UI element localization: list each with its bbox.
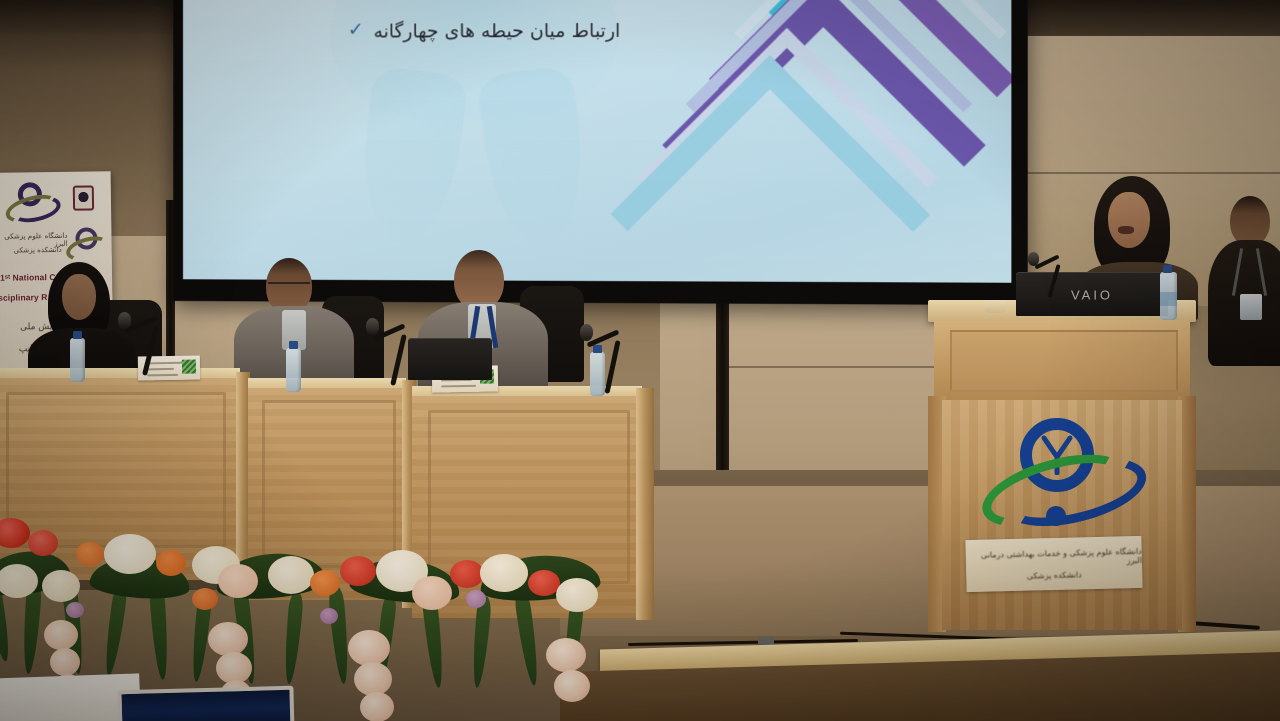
water-bottle [70, 338, 85, 382]
alborz-ums-emblem-icon [980, 418, 1130, 538]
foliage [102, 585, 128, 676]
microphone [358, 312, 432, 382]
flower-orange [192, 588, 218, 610]
glasses-icon [268, 282, 310, 292]
slide-bullet-text: ارتباط میان حیطه های چهارگانه [374, 16, 621, 45]
flower-orange [76, 542, 104, 566]
orchid-bloom [44, 620, 78, 650]
plaque-line-1: دانشگاه علوم پزشکی و خدمات بهداشتی درمان… [966, 546, 1142, 568]
mouth [1118, 226, 1134, 234]
slide-bullet-item: ارتباط میان حیطه های چهارگانه ✓ [345, 15, 987, 45]
wall-seam [729, 366, 944, 368]
orchid-bloom [348, 630, 390, 666]
slide-surface: تعیین ارتباط میان مشخصات دموگرافیک با حی… [183, 0, 1011, 283]
banner-persian-title-2: دانشکده پزشکی [10, 246, 62, 255]
orchid-bloom [546, 638, 586, 672]
face [1108, 192, 1150, 248]
tertiary-swoosh-icon [64, 232, 112, 265]
conference-photo: تعیین ارتباط میان مشخصات دموگرافیک با حی… [0, 0, 1280, 721]
water-bottle [286, 348, 301, 392]
flower-purple [466, 590, 486, 608]
foliage [282, 592, 304, 685]
foliage [328, 586, 351, 685]
water-bottle [1160, 272, 1177, 320]
flower-red [340, 556, 376, 586]
flower-cream [480, 554, 528, 592]
flower-purple [320, 608, 338, 624]
flower-cream [556, 578, 598, 612]
podium-microphone [1028, 250, 1080, 296]
flower-cream [104, 534, 156, 574]
orchid-bloom [208, 622, 248, 656]
alborz-ums-logo-icon [5, 182, 54, 223]
flower-cream [268, 556, 314, 594]
flower-peach [218, 564, 258, 598]
head [1230, 196, 1270, 246]
foliage [470, 596, 492, 689]
flower-purple [66, 602, 84, 618]
slide-bullets: تعیین ارتباط میان مشخصات دموگرافیک با حی… [345, 0, 987, 71]
paper-cup [984, 300, 1006, 313]
flower-orange [156, 550, 186, 576]
secondary-seal-logo-icon [73, 185, 94, 210]
attendee-with-badge [1212, 196, 1280, 386]
front-monitor [117, 686, 294, 721]
plaque-line-2: دانشکده پزشکی [1027, 570, 1082, 580]
flower-red [450, 560, 484, 588]
check-tick-icon: ✓ [345, 20, 364, 39]
podium: دانشگاه علوم پزشکی و خدمات بهداشتی درمان… [928, 300, 1196, 630]
orchid-bloom [50, 648, 80, 676]
microphone [118, 306, 188, 372]
orchid-bloom [554, 670, 590, 702]
podium-mid-inset [950, 330, 1178, 392]
flower-cream [42, 570, 80, 602]
podium-plaque: دانشگاه علوم پزشکی و خدمات بهداشتی درمان… [965, 536, 1142, 592]
foliage [513, 589, 541, 686]
flower-peach [412, 576, 452, 610]
badge [1240, 294, 1262, 320]
flower-red [28, 530, 58, 556]
head [454, 250, 504, 310]
face [62, 274, 96, 320]
orchid-bloom [354, 662, 392, 696]
flower-orange [310, 570, 340, 596]
microphone [570, 316, 646, 388]
orchid-bloom [360, 692, 394, 721]
flower-red [0, 518, 30, 548]
